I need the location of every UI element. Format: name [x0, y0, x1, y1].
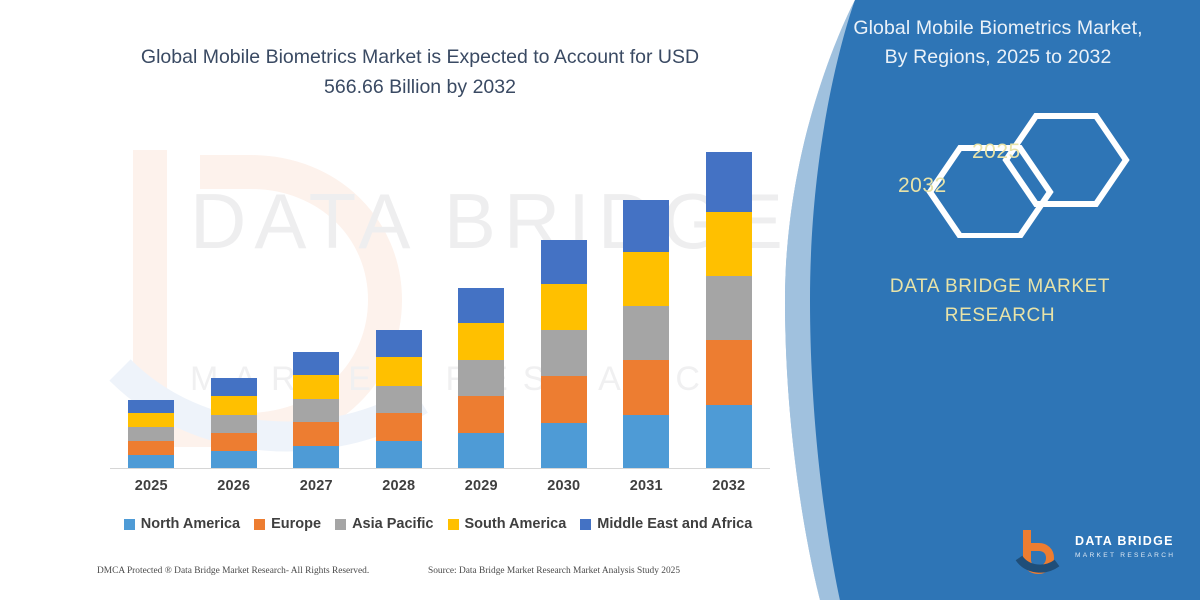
- bar-segment[interactable]: [128, 455, 174, 468]
- bar-segment[interactable]: [706, 212, 752, 276]
- data-bridge-logo-icon: [1013, 530, 1071, 574]
- legend-item[interactable]: North America: [124, 516, 240, 532]
- bar-segment[interactable]: [293, 446, 339, 468]
- bar-segment[interactable]: [623, 415, 669, 468]
- footer-source: Source: Data Bridge Market Research Mark…: [428, 566, 680, 576]
- bar-segment[interactable]: [128, 441, 174, 455]
- bar-segment[interactable]: [211, 451, 257, 468]
- right-panel: Global Mobile Biometrics Market, By Regi…: [780, 0, 1200, 600]
- bar-segment[interactable]: [211, 378, 257, 396]
- legend-label: North America: [141, 516, 240, 532]
- bar-segment[interactable]: [376, 357, 422, 386]
- x-axis-label: 2026: [194, 478, 274, 494]
- footer: DMCA Protected ® Data Bridge Market Rese…: [0, 566, 840, 592]
- legend-swatch-icon: [124, 519, 135, 530]
- panel-title-line-2: By Regions, 2025 to 2032: [808, 43, 1188, 72]
- x-axis-label: 2030: [524, 478, 604, 494]
- logo-text-line-1: DATA BRIDGE: [1075, 534, 1175, 548]
- panel-title: Global Mobile Biometrics Market, By Regi…: [808, 14, 1188, 72]
- legend-item[interactable]: Europe: [254, 516, 321, 532]
- bar-segment[interactable]: [458, 288, 504, 323]
- bar-segment[interactable]: [458, 323, 504, 360]
- legend-item[interactable]: Asia Pacific: [335, 516, 433, 532]
- bar-segment[interactable]: [706, 340, 752, 405]
- bar-segment[interactable]: [376, 330, 422, 357]
- chart-legend: North AmericaEuropeAsia PacificSouth Ame…: [108, 512, 768, 536]
- bar-segment[interactable]: [128, 427, 174, 441]
- bar-segment[interactable]: [293, 399, 339, 422]
- bar-segment[interactable]: [211, 433, 257, 451]
- bar-segment[interactable]: [128, 400, 174, 413]
- legend-label: Middle East and Africa: [597, 516, 752, 532]
- bar-group[interactable]: [541, 240, 587, 468]
- bar-group[interactable]: [458, 288, 504, 468]
- bar-segment[interactable]: [376, 413, 422, 441]
- bar-group[interactable]: [623, 200, 669, 468]
- x-axis-label: 2032: [689, 478, 769, 494]
- panel-brand-line-1: DATA BRIDGE MARKET: [890, 276, 1110, 297]
- hexagon-shapes-icon: [860, 108, 1200, 238]
- bar-segment[interactable]: [128, 413, 174, 427]
- x-axis-label: 2028: [359, 478, 439, 494]
- bar-segment[interactable]: [623, 360, 669, 415]
- logo-text-line-2: MARKET RESEARCH: [1075, 552, 1175, 559]
- bar-segment[interactable]: [706, 405, 752, 468]
- bar-segment[interactable]: [458, 360, 504, 396]
- x-axis-label: 2029: [441, 478, 521, 494]
- bar-group[interactable]: [128, 400, 174, 468]
- footer-copyright: DMCA Protected ® Data Bridge Market Rese…: [97, 566, 369, 576]
- bar-chart: 20252026202720282029203020312032: [0, 0, 840, 600]
- bar-group[interactable]: [293, 352, 339, 468]
- bar-segment[interactable]: [293, 375, 339, 399]
- bar-segment[interactable]: [458, 396, 504, 433]
- legend-label: Asia Pacific: [352, 516, 433, 532]
- infographic-canvas: DATA BRIDGE MARKET RESEARCH Global Mobil…: [0, 0, 1200, 600]
- legend-swatch-icon: [448, 519, 459, 530]
- legend-swatch-icon: [580, 519, 591, 530]
- bar-segment[interactable]: [541, 284, 587, 330]
- brand-logo: DATA BRIDGE MARKET RESEARCH: [1013, 530, 1188, 574]
- bar-segment[interactable]: [706, 152, 752, 212]
- bar-segment[interactable]: [293, 352, 339, 375]
- hexagon-group: [860, 108, 1200, 228]
- bar-segment[interactable]: [706, 276, 752, 340]
- bar-segment[interactable]: [541, 330, 587, 376]
- bar-group[interactable]: [706, 152, 752, 468]
- panel-brand-name: DATA BRIDGE MARKET RESEARCH: [800, 272, 1200, 330]
- legend-label: South America: [465, 516, 567, 532]
- logo-text: DATA BRIDGE MARKET RESEARCH: [1075, 534, 1175, 559]
- legend-label: Europe: [271, 516, 321, 532]
- bar-segment[interactable]: [541, 376, 587, 423]
- hexagon-label-front: 2025: [972, 140, 1021, 164]
- bar-group[interactable]: [211, 378, 257, 468]
- bar-segment[interactable]: [541, 240, 587, 284]
- panel-brand-line-2: RESEARCH: [800, 301, 1200, 330]
- bar-group[interactable]: [376, 330, 422, 468]
- bar-series-container: [110, 120, 770, 468]
- bar-segment[interactable]: [376, 386, 422, 413]
- x-axis-labels: 20252026202720282029203020312032: [110, 478, 770, 502]
- legend-swatch-icon: [254, 519, 265, 530]
- x-axis-label: 2027: [276, 478, 356, 494]
- legend-swatch-icon: [335, 519, 346, 530]
- bar-segment[interactable]: [211, 415, 257, 433]
- x-axis-label: 2025: [111, 478, 191, 494]
- x-axis-label: 2031: [606, 478, 686, 494]
- bar-segment[interactable]: [623, 200, 669, 252]
- bar-segment[interactable]: [541, 423, 587, 468]
- legend-item[interactable]: South America: [448, 516, 567, 532]
- bar-segment[interactable]: [376, 441, 422, 468]
- bar-segment[interactable]: [293, 422, 339, 446]
- hexagon-label-back: 2032: [898, 174, 947, 198]
- x-axis-line: [110, 468, 770, 469]
- bar-segment[interactable]: [623, 252, 669, 306]
- bar-segment[interactable]: [211, 396, 257, 415]
- legend-item[interactable]: Middle East and Africa: [580, 516, 752, 532]
- bar-segment[interactable]: [623, 306, 669, 360]
- panel-title-line-1: Global Mobile Biometrics Market,: [853, 17, 1142, 39]
- bar-segment[interactable]: [458, 433, 504, 468]
